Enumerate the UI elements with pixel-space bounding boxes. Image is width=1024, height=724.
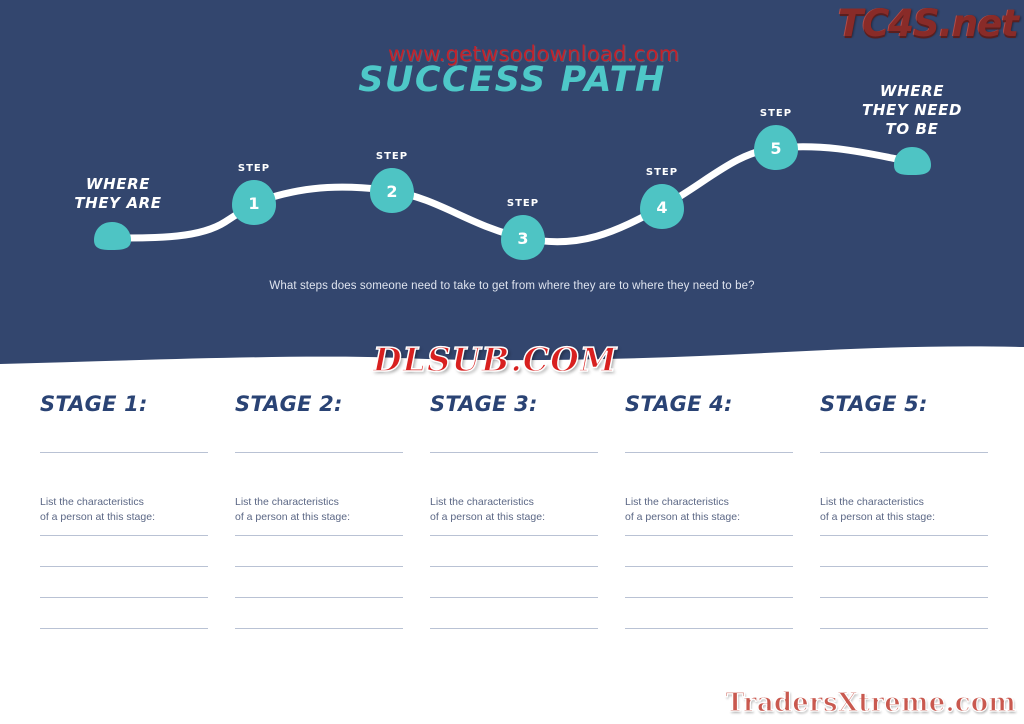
- stage-5-rule-2[interactable]: [820, 535, 988, 536]
- where-they-need-to-be-line-1: WHERE: [845, 82, 979, 101]
- step-3-number: 3: [500, 229, 546, 248]
- stage-3-title: STAGE 3:: [430, 392, 598, 416]
- stage-4-rule-2[interactable]: [625, 535, 793, 536]
- stage-5-rule-3[interactable]: [820, 566, 988, 567]
- stage-2-hint-line-2: of a person at this stage:: [235, 510, 403, 525]
- stage-1-hint-line-1: List the characteristics: [40, 495, 208, 510]
- where-they-are-label: WHERE THEY ARE: [58, 175, 178, 213]
- where-they-need-to-be-line-2: THEY NEED: [845, 101, 979, 120]
- where-they-need-to-be-line-3: TO BE: [845, 120, 979, 139]
- stage-column-2: STAGE 2: List the characteristics of a p…: [235, 392, 403, 629]
- where-they-need-to-be-label: WHERE THEY NEED TO BE: [845, 82, 979, 139]
- stage-3-rule-3[interactable]: [430, 566, 598, 567]
- stage-3-rule-1[interactable]: [430, 452, 598, 453]
- step-3-label: STEP: [493, 198, 553, 209]
- stage-1-rule-2[interactable]: [40, 535, 208, 536]
- stage-2-hint-line-1: List the characteristics: [235, 495, 403, 510]
- stage-1-hint: List the characteristics of a person at …: [40, 495, 208, 525]
- worksheet-page: www.getwsodownload.com SUCCESS PATH TC4S…: [0, 0, 1024, 724]
- stage-3-hint-line-1: List the characteristics: [430, 495, 598, 510]
- stage-4-hint: List the characteristics of a person at …: [625, 495, 793, 525]
- stage-2-hint: List the characteristics of a person at …: [235, 495, 403, 525]
- stage-2-title: STAGE 2:: [235, 392, 403, 416]
- where-they-are-line-1: WHERE: [58, 175, 178, 194]
- stage-5-rule-1[interactable]: [820, 452, 988, 453]
- stage-2-rule-1[interactable]: [235, 452, 403, 453]
- watermark-dlsub: DLSUB.COM: [373, 340, 617, 379]
- stage-5-hint: List the characteristics of a person at …: [820, 495, 988, 525]
- step-2-number: 2: [369, 182, 415, 201]
- step-5-label: STEP: [746, 108, 806, 119]
- stage-3-hint: List the characteristics of a person at …: [430, 495, 598, 525]
- step-4-number: 4: [639, 198, 685, 217]
- stage-5-rule-4[interactable]: [820, 597, 988, 598]
- stage-5-hint-line-1: List the characteristics: [820, 495, 988, 510]
- stage-2-rule-2[interactable]: [235, 535, 403, 536]
- stage-column-1: STAGE 1: List the characteristics of a p…: [40, 392, 208, 629]
- step-1-label: STEP: [224, 163, 284, 174]
- stage-1-hint-line-2: of a person at this stage:: [40, 510, 208, 525]
- start-blob: [94, 222, 131, 250]
- step-1-number: 1: [231, 194, 277, 213]
- stage-4-rule-5[interactable]: [625, 628, 793, 629]
- stage-4-rule-3[interactable]: [625, 566, 793, 567]
- stage-column-4: STAGE 4: List the characteristics of a p…: [625, 392, 793, 629]
- stage-columns: STAGE 1: List the characteristics of a p…: [0, 392, 1024, 692]
- step-4-label: STEP: [632, 167, 692, 178]
- stage-1-rule-4[interactable]: [40, 597, 208, 598]
- stage-1-rule-1[interactable]: [40, 452, 208, 453]
- prompt-question: What steps does someone need to take to …: [0, 280, 1024, 292]
- stage-3-hint-line-2: of a person at this stage:: [430, 510, 598, 525]
- stage-1-rule-5[interactable]: [40, 628, 208, 629]
- stage-3-rule-4[interactable]: [430, 597, 598, 598]
- stage-4-hint-line-2: of a person at this stage:: [625, 510, 793, 525]
- stage-5-hint-line-2: of a person at this stage:: [820, 510, 988, 525]
- stage-1-rule-3[interactable]: [40, 566, 208, 567]
- stage-4-rule-4[interactable]: [625, 597, 793, 598]
- where-they-are-line-2: THEY ARE: [58, 194, 178, 213]
- stage-4-title: STAGE 4:: [625, 392, 793, 416]
- watermark-tradersxtreme: TradersXtreme.com: [725, 688, 1016, 718]
- stage-column-3: STAGE 3: List the characteristics of a p…: [430, 392, 598, 629]
- stage-2-rule-4[interactable]: [235, 597, 403, 598]
- stage-5-title: STAGE 5:: [820, 392, 988, 416]
- stage-2-rule-5[interactable]: [235, 628, 403, 629]
- stage-5-rule-5[interactable]: [820, 628, 988, 629]
- stage-1-title: STAGE 1:: [40, 392, 208, 416]
- stage-3-rule-2[interactable]: [430, 535, 598, 536]
- step-2-label: STEP: [362, 151, 422, 162]
- stage-4-hint-line-1: List the characteristics: [625, 495, 793, 510]
- stage-3-rule-5[interactable]: [430, 628, 598, 629]
- stage-column-5: STAGE 5: List the characteristics of a p…: [820, 392, 988, 629]
- stage-4-rule-1[interactable]: [625, 452, 793, 453]
- end-blob: [894, 147, 931, 175]
- step-5-number: 5: [753, 139, 799, 158]
- stage-2-rule-3[interactable]: [235, 566, 403, 567]
